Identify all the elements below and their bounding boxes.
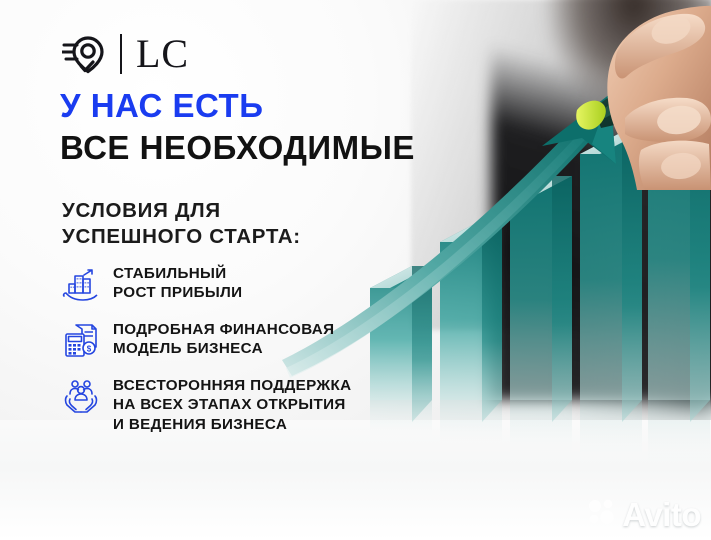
benefit-1-text: СТАБИЛЬНЫЙ РОСТ ПРИБЫЛИ	[113, 264, 242, 303]
headline: У НАС ЕСТЬ ВСЕ НЕОБХОДИМЫЕ	[60, 88, 415, 167]
avito-watermark: Avito	[587, 497, 701, 532]
hand-holding-marker-icon	[541, 0, 711, 190]
headline-line-2: ВСЕ НЕОБХОДИМЫЕ	[60, 130, 415, 167]
list-item: $ ПОДРОБНАЯ ФИН	[62, 320, 351, 359]
benefit-2-line-2: МОДЕЛЬ БИЗНЕСА	[113, 340, 263, 357]
list-item: ВСЕСТОРОННЯЯ ПОДДЕРЖКА НА ВСЕХ ЭТАПАХ ОТ…	[62, 376, 351, 434]
benefit-3-text: ВСЕСТОРОННЯЯ ПОДДЕРЖКА НА ВСЕХ ЭТАПАХ ОТ…	[113, 376, 351, 434]
people-in-hands-support-icon	[62, 377, 100, 415]
benefit-2-text: ПОДРОБНАЯ ФИНАНСОВАЯ МОДЕЛЬ БИЗНЕСА	[113, 320, 334, 359]
subheading-line-2: УСПЕШНОГО СТАРТА:	[62, 224, 301, 250]
benefit-1-line-2: РОСТ ПРИБЫЛИ	[113, 284, 242, 301]
benefit-1-line-1: СТАБИЛЬНЫЙ	[113, 265, 227, 282]
brand-name: LC	[136, 34, 189, 74]
headline-line-1: У НАС ЕСТЬ	[60, 88, 415, 125]
list-item: СТАБИЛЬНЫЙ РОСТ ПРИБЫЛИ	[62, 264, 351, 303]
logo-divider	[120, 34, 122, 74]
benefits-list: СТАБИЛЬНЫЙ РОСТ ПРИБЫЛИ	[62, 264, 351, 434]
copy-block: LC У НАС ЕСТЬ ВСЕ НЕОБХОДИМЫЕ УСЛОВИЯ ДЛ…	[0, 0, 470, 540]
location-pin-check-icon	[62, 32, 106, 76]
hand	[607, 6, 711, 190]
calculator-document-dollar-icon: $	[62, 321, 100, 359]
svg-text:$: $	[87, 345, 92, 354]
benefit-3-line-2: НА ВСЕХ ЭТАПАХ ОТКРЫТИЯ	[113, 396, 346, 413]
benefit-2-line-1: ПОДРОБНАЯ ФИНАНСОВАЯ	[113, 321, 334, 338]
buildings-growth-on-hand-icon	[62, 265, 100, 303]
benefit-3-line-1: ВСЕСТОРОННЯЯ ПОДДЕРЖКА	[113, 377, 351, 394]
subheading: УСЛОВИЯ ДЛЯ УСПЕШНОГО СТАРТА:	[62, 198, 301, 250]
benefit-3-line-3: И ВЕДЕНИЯ БИЗНЕСА	[113, 416, 287, 433]
brand-logo[interactable]: LC	[62, 32, 189, 76]
advertisement-banner: LC У НАС ЕСТЬ ВСЕ НЕОБХОДИМЫЕ УСЛОВИЯ ДЛ…	[0, 0, 711, 540]
avito-dots-icon	[587, 497, 617, 532]
subheading-line-1: УСЛОВИЯ ДЛЯ	[62, 198, 301, 224]
avito-label: Avito	[622, 498, 701, 531]
